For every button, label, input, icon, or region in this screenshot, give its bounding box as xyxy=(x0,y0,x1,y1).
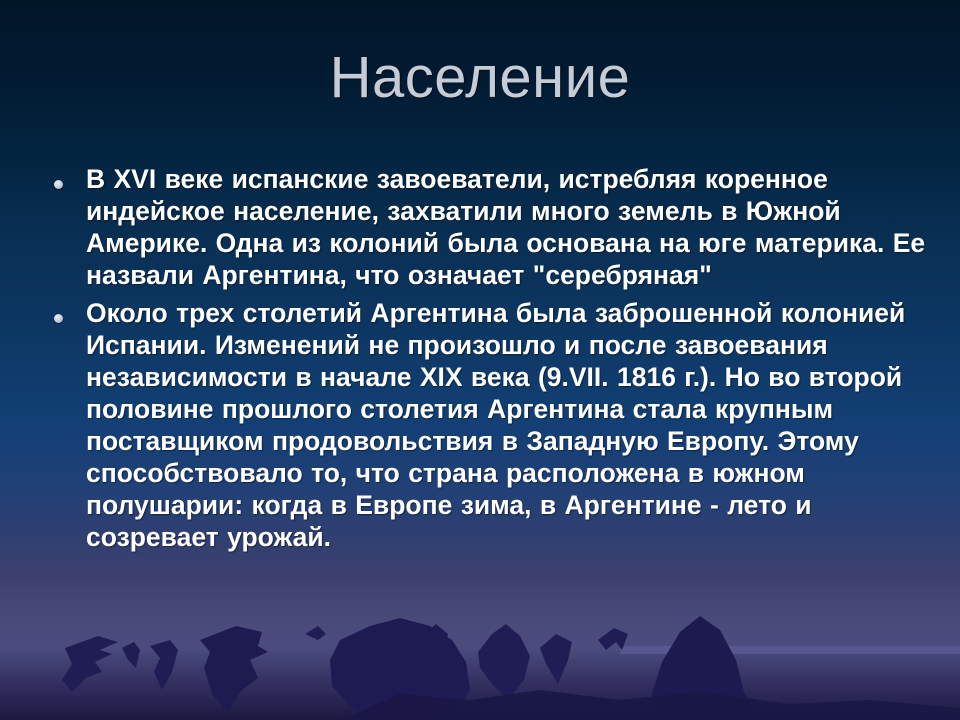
bullet-marker xyxy=(46,297,86,328)
bullet-paragraph-2: Около трех столетий Аргентина была забро… xyxy=(86,297,926,553)
bullet-dot-icon xyxy=(54,314,63,323)
bullet-list: В XVI веке испанские завоеватели, истреб… xyxy=(46,163,926,559)
bullet-paragraph-1: В XVI веке испанские завоеватели, истреб… xyxy=(86,163,926,291)
page-title: Население xyxy=(0,44,960,112)
bullet-dot-icon xyxy=(54,180,63,189)
bullet-marker xyxy=(46,163,86,194)
list-item: В XVI веке испанские завоеватели, истреб… xyxy=(46,163,926,291)
list-item: Около трех столетий Аргентина была забро… xyxy=(46,297,926,553)
presentation-slide: 0%#3a2f9e 22%#4a33d2 62%#4733c6 100%#3a3… xyxy=(0,0,960,720)
